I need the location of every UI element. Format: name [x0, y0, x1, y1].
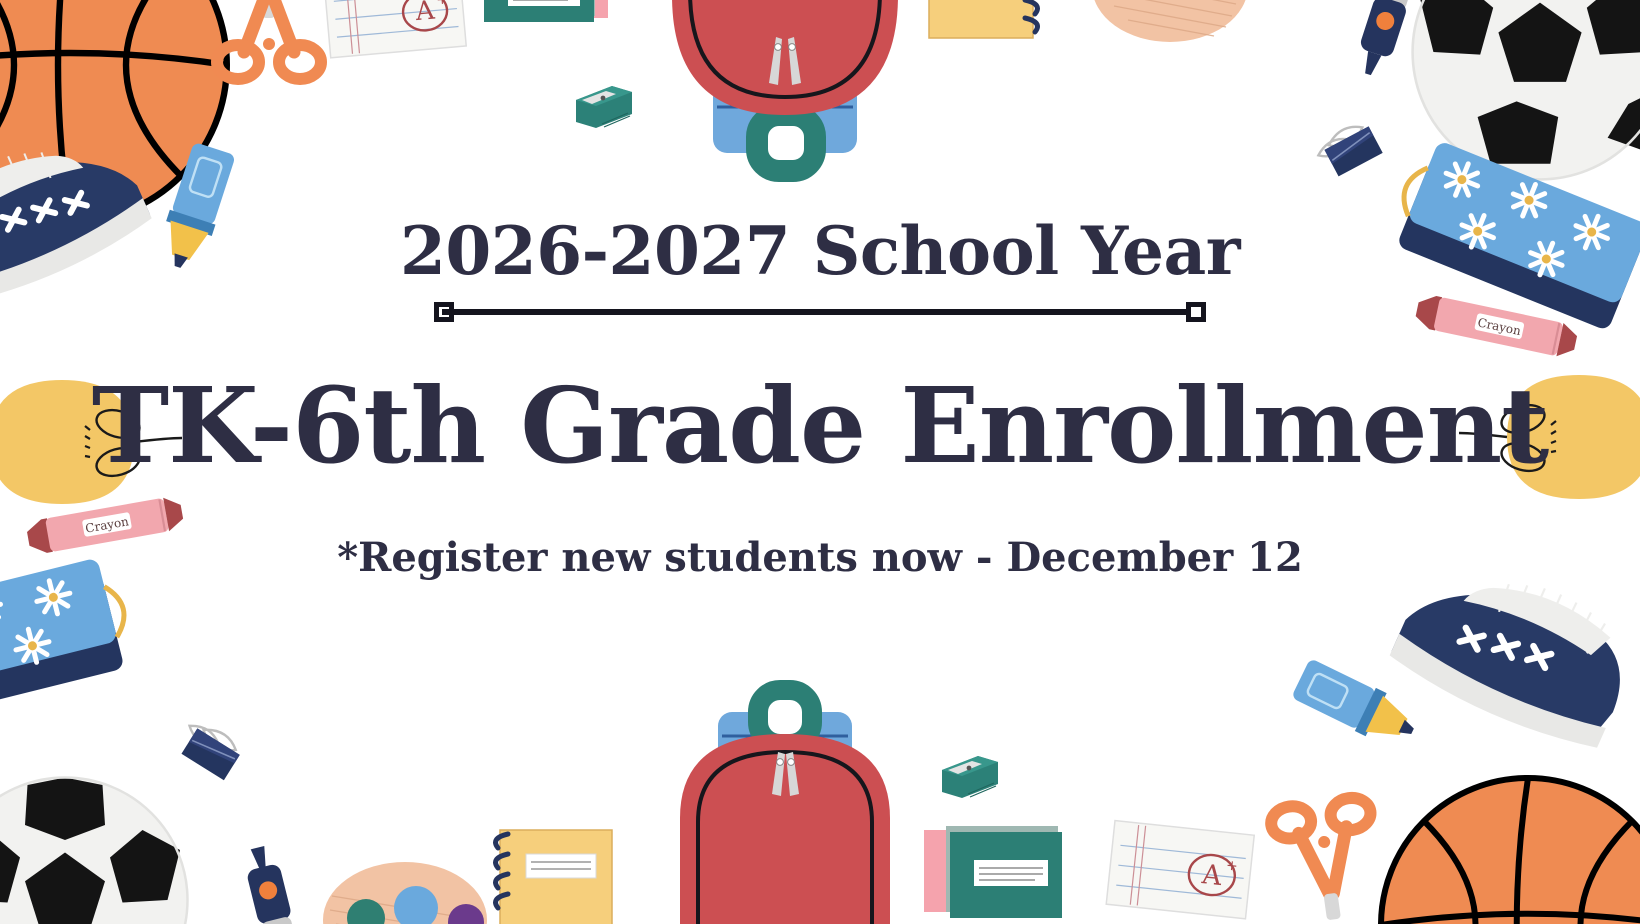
divider-bar: [442, 309, 1198, 315]
enrollment-flyer: A +: [0, 0, 1640, 924]
divider-cap-right: [1186, 302, 1206, 322]
school-year-heading: 2026-2027 School Year: [400, 218, 1240, 284]
registration-note: *Register new students now - December 12: [337, 538, 1303, 578]
page-title: TK-6th Grade Enrollment: [92, 374, 1549, 478]
flyer-text-block: 2026-2027 School Year TK-6th Grade Enrol…: [0, 0, 1640, 924]
decorative-divider: [434, 302, 1206, 322]
